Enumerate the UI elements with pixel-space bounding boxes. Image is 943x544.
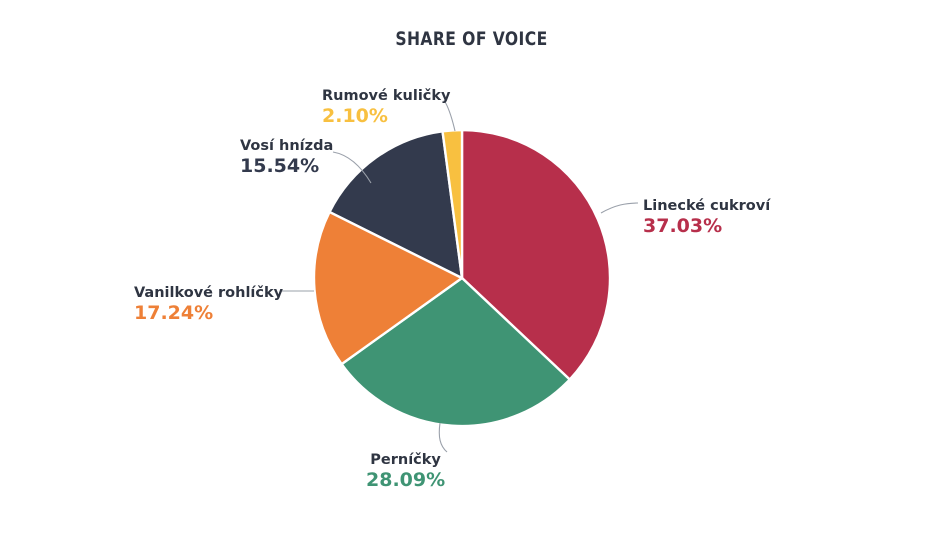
pie-label-value: 15.54%	[240, 156, 333, 177]
pie-label-vanilkove-rohlicky: Vanilkové rohlíčky 17.24%	[134, 285, 283, 325]
pie-slices-group	[314, 130, 610, 426]
pie-label-vosi-hnizda: Vosí hnízda 15.54%	[240, 138, 333, 178]
pie-label-linecke-cukrovi: Linecké cukroví 37.03%	[643, 198, 770, 238]
pie-label-pernicky: Perníčky 28.09%	[366, 452, 445, 492]
chart-canvas: SHARE OF VOICE Linecké cukroví 37.03% Pe…	[0, 0, 943, 544]
pie-label-name: Linecké cukroví	[643, 198, 770, 214]
pie-label-rumove-kulicky: Rumové kuličky 2.10%	[322, 88, 451, 128]
pie-label-name: Perníčky	[366, 452, 445, 468]
pie-label-name: Vosí hnízda	[240, 138, 333, 154]
pie-label-value: 2.10%	[322, 106, 451, 127]
pie-label-value: 28.09%	[366, 470, 445, 491]
leader-line-linecke	[601, 203, 638, 213]
pie-chart-graphic	[0, 0, 943, 544]
pie-label-name: Vanilkové rohlíčky	[134, 285, 283, 301]
leader-line-pernicky	[439, 423, 447, 452]
pie-label-value: 17.24%	[134, 303, 283, 324]
pie-label-value: 37.03%	[643, 216, 770, 237]
pie-label-name: Rumové kuličky	[322, 88, 451, 104]
